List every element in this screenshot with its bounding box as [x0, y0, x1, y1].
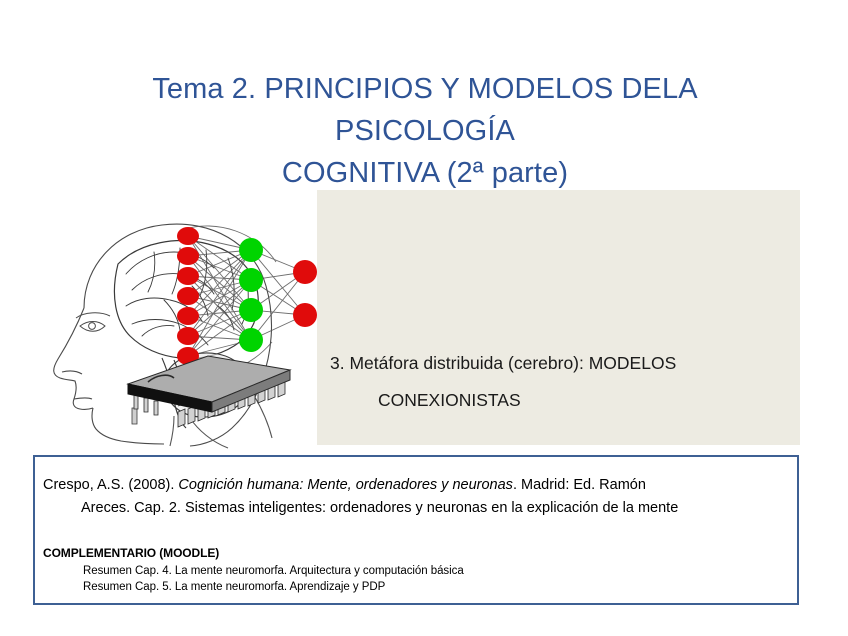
content-line-1: 3. Metáfora distribuida (cerebro): MODEL… — [330, 345, 790, 382]
complementary-section: COMPLEMENTARIO (MOODLE) Resumen Cap. 4. … — [43, 545, 783, 595]
citation-title-italic: Cognición humana: Mente, ordenadores y n… — [178, 477, 513, 493]
page-title: Tema 2. PRINCIPIOS Y MODELOS DELA PSICOL… — [60, 68, 790, 194]
input-node — [177, 227, 199, 245]
output-node — [293, 303, 317, 327]
complementary-list: Resumen Cap. 4. La mente neuromorfa. Arq… — [43, 563, 783, 595]
eye-detail — [76, 313, 110, 331]
complementary-heading: COMPLEMENTARIO (MOODLE) — [43, 545, 783, 561]
page-title-line-1: Tema 2. PRINCIPIOS Y MODELOS DELA PSICOL… — [60, 68, 790, 152]
hidden-node — [239, 238, 263, 262]
input-node — [177, 287, 199, 305]
output-layer-nodes — [293, 260, 317, 327]
hidden-node — [239, 328, 263, 352]
content-panel-text: 3. Metáfora distribuida (cerebro): MODEL… — [330, 345, 790, 419]
page-title-line-2: COGNITIVA (2ª parte) — [60, 152, 790, 194]
chip-pins-front — [132, 408, 137, 424]
reference-box: Crespo, A.S. (2008). Cognición humana: M… — [33, 455, 799, 605]
input-node — [177, 247, 199, 265]
input-node — [177, 307, 199, 325]
citation-line-2: Areces. Cap. 2. Sistemas inteligentes: o… — [43, 497, 783, 520]
content-line-2: CONEXIONISTAS — [330, 382, 790, 419]
presentation-slide: Tema 2. PRINCIPIOS Y MODELOS DELA PSICOL… — [0, 0, 848, 636]
hidden-node — [239, 298, 263, 322]
output-node — [293, 260, 317, 284]
input-node — [177, 327, 199, 345]
list-item: Resumen Cap. 4. La mente neuromorfa. Arq… — [83, 563, 783, 579]
brain-neural-network-illustration — [22, 190, 322, 452]
input-node — [177, 267, 199, 285]
citation-author-year: Crespo, A.S. (2008). — [43, 477, 178, 493]
hidden-node — [239, 268, 263, 292]
citation-publisher: . Madrid: Ed. Ramón — [513, 477, 646, 493]
microchip-icon — [128, 356, 290, 427]
citation-line-1: Crespo, A.S. (2008). Cognición humana: M… — [43, 474, 783, 497]
citation: Crespo, A.S. (2008). Cognición humana: M… — [43, 474, 783, 520]
list-item: Resumen Cap. 5. La mente neuromorfa. Apr… — [83, 579, 783, 595]
content-panel: 3. Metáfora distribuida (cerebro): MODEL… — [317, 190, 800, 445]
